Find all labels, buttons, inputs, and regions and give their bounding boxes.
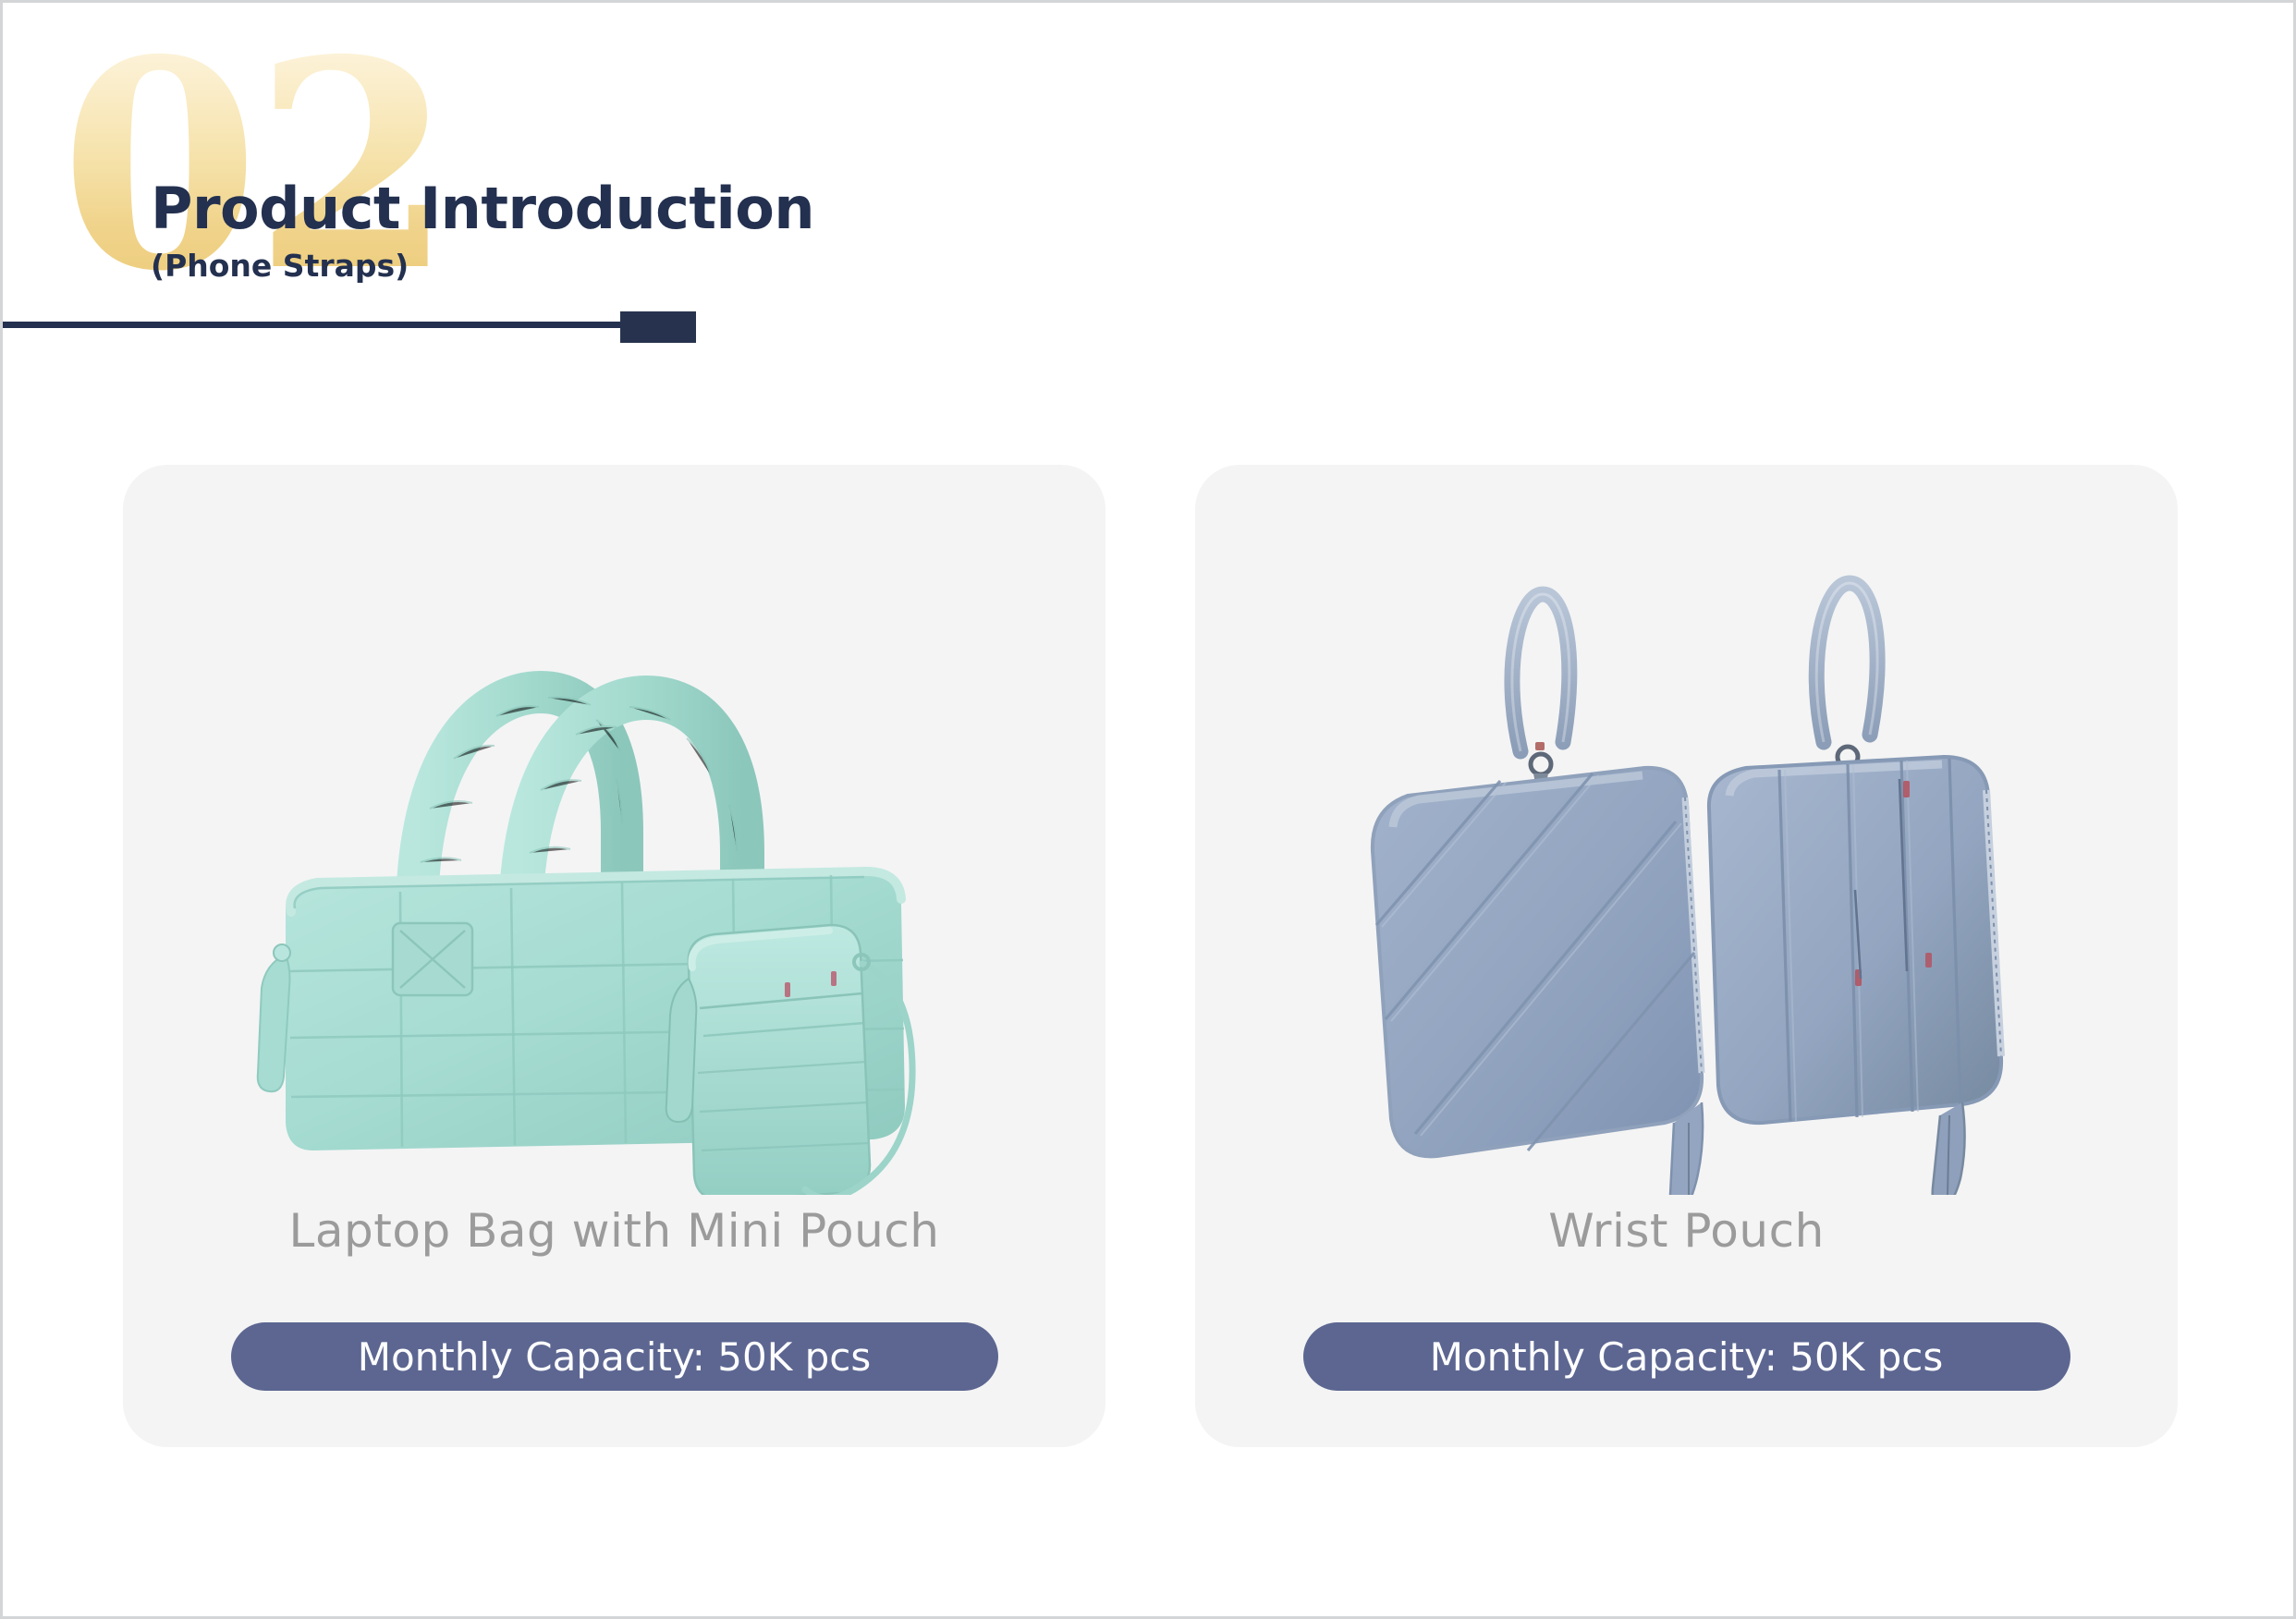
slide-canvas: 02 Product Introduction (Phone Straps) <box>0 0 2296 1619</box>
product-card-grid: Laptop Bag with Mini Pouch Monthly Capac… <box>3 465 2296 1463</box>
product-title: Laptop Bag with Mini Pouch <box>123 1204 1105 1258</box>
monthly-capacity-badge[interactable]: Monthly Capacity: 50K pcs <box>1303 1322 2070 1391</box>
wrist-pouch-illustration <box>1195 465 2178 1195</box>
page-title: Product Introduction <box>151 178 814 238</box>
page-subtitle: (Phone Straps) <box>151 248 814 284</box>
product-card-laptop-bag[interactable]: Laptop Bag with Mini Pouch Monthly Capac… <box>123 465 1105 1447</box>
slide-header: 02 Product Introduction (Phone Straps) <box>3 3 1112 372</box>
product-title: Wrist Pouch <box>1195 1204 2178 1258</box>
laptop-bag-illustration <box>123 465 1105 1195</box>
divider-end-block <box>620 311 696 343</box>
product-card-wrist-pouch[interactable]: Wrist Pouch Monthly Capacity: 50K pcs <box>1195 465 2178 1447</box>
divider-line <box>3 322 641 328</box>
header-divider <box>3 311 705 343</box>
product-image-laptop-bag <box>123 465 1105 1195</box>
monthly-capacity-badge[interactable]: Monthly Capacity: 50K pcs <box>231 1322 998 1391</box>
product-image-wrist-pouch <box>1195 465 2178 1195</box>
title-block: Product Introduction (Phone Straps) <box>151 178 814 284</box>
